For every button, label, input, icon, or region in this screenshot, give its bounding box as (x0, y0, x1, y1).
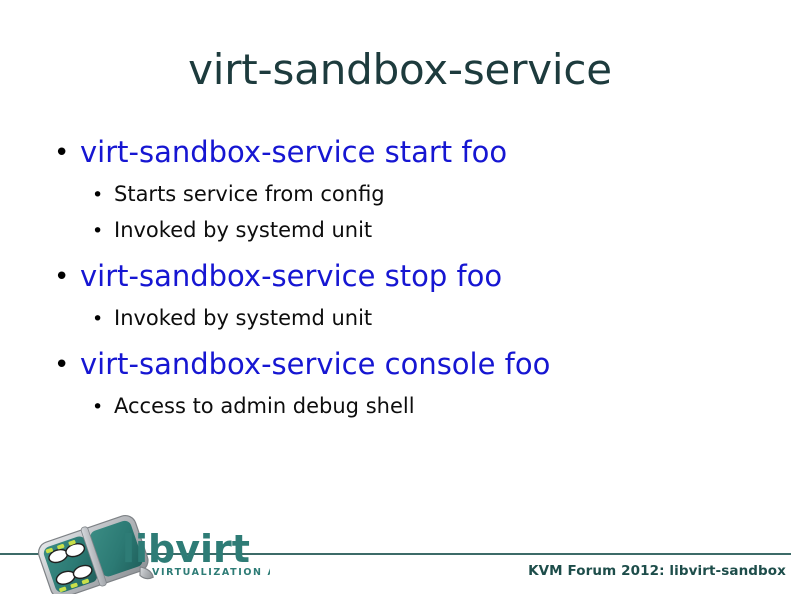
footer-note: KVM Forum 2012: libvirt-sandbox (528, 563, 786, 579)
list-item-level2[interactable]: • Access to admin debug shell (0, 395, 740, 417)
list-item-level1[interactable]: • virt-sandbox-service start foo (0, 136, 740, 167)
bullet-marker-icon: • (92, 222, 114, 241)
bullet-list: • virt-sandbox-service start foo • Start… (0, 136, 740, 419)
bullet-marker-icon: • (92, 186, 114, 205)
list-item-level2[interactable]: • Invoked by systemd unit (0, 307, 740, 329)
bullet-marker-icon: • (54, 140, 80, 166)
bullet-marker-icon: • (92, 398, 114, 417)
list-item-label: Access to admin debug shell (114, 395, 415, 417)
list-item-level2[interactable]: • Invoked by systemd unit (0, 219, 740, 241)
presentation-slide: virt-sandbox-service • virt-sandbox-serv… (0, 0, 800, 600)
list-item-label: virt-sandbox-service start foo (80, 136, 507, 167)
list-item-label: Starts service from config (114, 183, 385, 205)
spacer (0, 331, 740, 348)
list-item-label: Invoked by systemd unit (114, 307, 372, 329)
bullet-marker-icon: • (92, 310, 114, 329)
bullet-marker-icon: • (54, 352, 80, 378)
spacer (0, 243, 740, 260)
list-item-label: virt-sandbox-service stop foo (80, 260, 502, 291)
page-title: virt-sandbox-service (0, 48, 800, 92)
logo-tagline: VIRTUALIZATION API (152, 567, 270, 578)
bullet-marker-icon: • (54, 264, 80, 290)
list-item-label: Invoked by systemd unit (114, 219, 372, 241)
logo-wordmark: libvirt (122, 527, 250, 571)
list-item-level2[interactable]: • Starts service from config (0, 183, 740, 205)
list-item-level1[interactable]: • virt-sandbox-service stop foo (0, 260, 740, 291)
libvirt-logo: libvirt VIRTUALIZATION API (30, 512, 270, 594)
list-item-level1[interactable]: • virt-sandbox-service console foo (0, 348, 740, 379)
list-item-label: virt-sandbox-service console foo (80, 348, 550, 379)
